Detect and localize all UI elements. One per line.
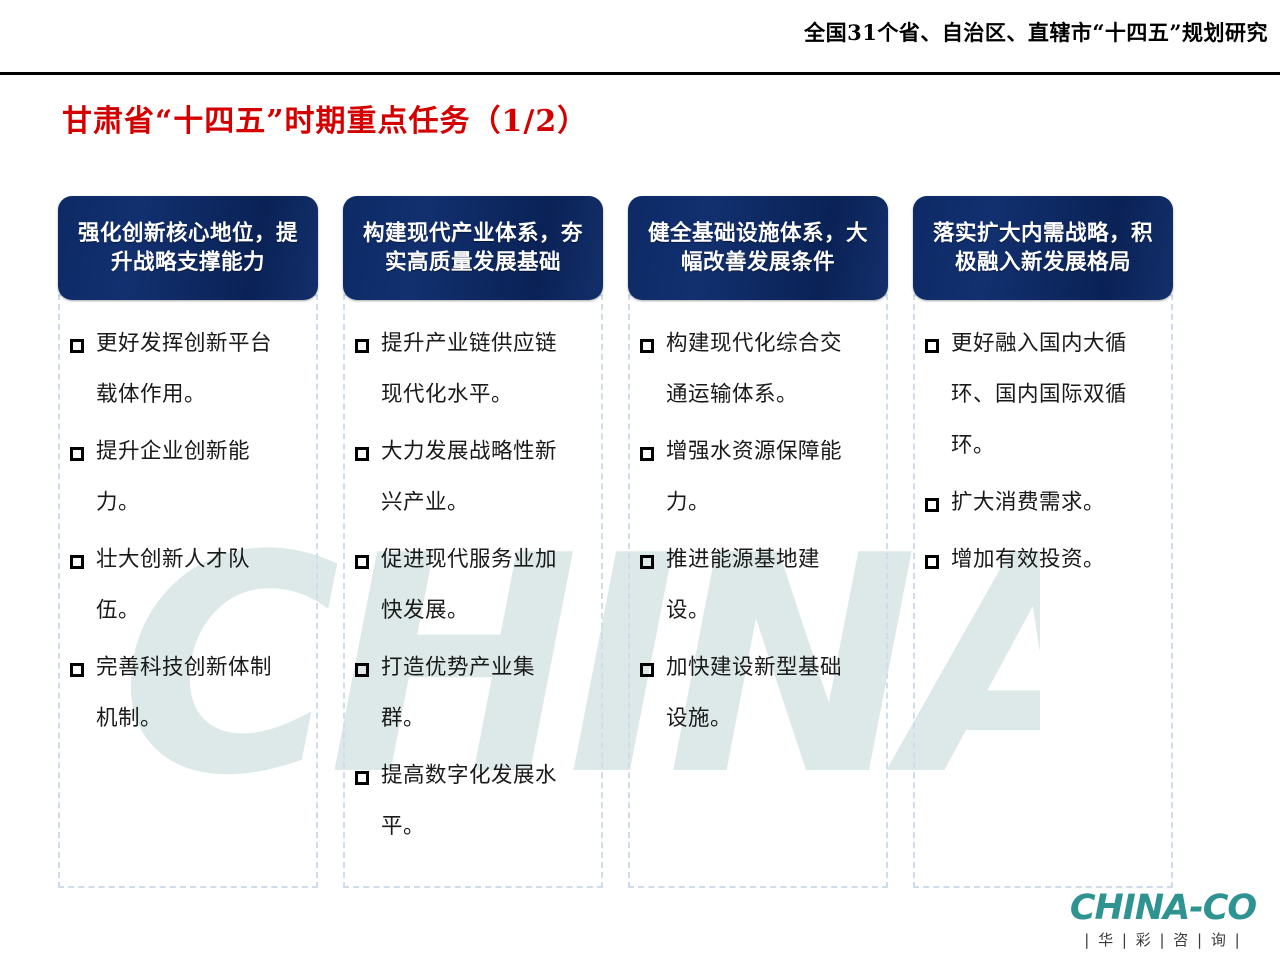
list-item-label: 更好发挥创新平台载体作用。 bbox=[96, 318, 282, 420]
list-item: 大力发展战略性新兴产业。 bbox=[351, 426, 595, 528]
hollow-square-bullet-icon bbox=[636, 318, 658, 368]
column-header-1-label: 强化创新核心地位，提升战略支撑能力 bbox=[68, 219, 308, 277]
list-item: 促进现代服务业加快发展。 bbox=[351, 534, 595, 636]
hollow-square-bullet-icon bbox=[66, 642, 88, 692]
page-title: 甘肃省“十四五”时期重点任务（1/2） bbox=[62, 96, 588, 140]
hollow-square-bullet-icon bbox=[351, 534, 373, 584]
list-item-label: 壮大创新人才队伍。 bbox=[96, 534, 282, 636]
column-header-2: 构建现代产业体系，夯实高质量发展基础 bbox=[343, 196, 603, 300]
page-header: 全国31个省、自治区、直辖市“十四五”规划研究 bbox=[0, 0, 1280, 76]
column-header-4: 落实扩大内需战略，积极融入新发展格局 bbox=[913, 196, 1173, 300]
list-item-label: 提高数字化发展水平。 bbox=[381, 750, 567, 852]
hollow-square-bullet-icon bbox=[66, 318, 88, 368]
list-item-label: 大力发展战略性新兴产业。 bbox=[381, 426, 567, 528]
hollow-square-bullet-icon bbox=[636, 642, 658, 692]
hollow-square-bullet-icon bbox=[351, 750, 373, 800]
list-item: 扩大消费需求。 bbox=[921, 477, 1165, 528]
hollow-square-bullet-icon bbox=[921, 318, 943, 368]
column-body-1: 更好发挥创新平台载体作用。 提升企业创新能力。 壮大创新人才队伍。 完善科技创新… bbox=[58, 294, 318, 888]
list-item-label: 增强水资源保障能力。 bbox=[666, 426, 852, 528]
list-item: 提升企业创新能力。 bbox=[66, 426, 310, 528]
column-header-2-label: 构建现代产业体系，夯实高质量发展基础 bbox=[353, 219, 593, 277]
hollow-square-bullet-icon bbox=[351, 318, 373, 368]
list-item-label: 更好融入国内大循环、国内国际双循环。 bbox=[951, 318, 1137, 471]
list-item-label: 提升企业创新能力。 bbox=[96, 426, 282, 528]
hollow-square-bullet-icon bbox=[351, 426, 373, 476]
task-column-3: 健全基础设施体系，大幅改善发展条件 构建现代化综合交通运输体系。 增强水资源保障… bbox=[628, 196, 888, 888]
logo-subtitle: | 华 | 彩 | 咨 | 询 | bbox=[1084, 929, 1241, 950]
hollow-square-bullet-icon bbox=[921, 534, 943, 584]
hollow-square-bullet-icon bbox=[921, 477, 943, 527]
list-item: 提升产业链供应链现代化水平。 bbox=[351, 318, 595, 420]
list-item: 提高数字化发展水平。 bbox=[351, 750, 595, 852]
column-header-1: 强化创新核心地位，提升战略支撑能力 bbox=[58, 196, 318, 300]
list-item: 增加有效投资。 bbox=[921, 534, 1165, 585]
list-item: 打造优势产业集群。 bbox=[351, 642, 595, 744]
list-item: 推进能源基地建设。 bbox=[636, 534, 880, 636]
list-item: 加快建设新型基础设施。 bbox=[636, 642, 880, 744]
list-item: 构建现代化综合交通运输体系。 bbox=[636, 318, 880, 420]
bullet-list-2: 提升产业链供应链现代化水平。 大力发展战略性新兴产业。 促进现代服务业加快发展。… bbox=[351, 318, 595, 852]
list-item: 壮大创新人才队伍。 bbox=[66, 534, 310, 636]
list-item: 增强水资源保障能力。 bbox=[636, 426, 880, 528]
bullet-list-4: 更好融入国内大循环、国内国际双循环。 扩大消费需求。 增加有效投资。 bbox=[921, 318, 1165, 585]
column-header-3: 健全基础设施体系，大幅改善发展条件 bbox=[628, 196, 888, 300]
header-title: 全国31个省、自治区、直辖市“十四五”规划研究 bbox=[804, 17, 1268, 47]
list-item-label: 提升产业链供应链现代化水平。 bbox=[381, 318, 567, 420]
list-item-label: 增加有效投资。 bbox=[951, 534, 1105, 585]
list-item: 更好融入国内大循环、国内国际双循环。 bbox=[921, 318, 1165, 471]
header-divider bbox=[0, 72, 1280, 75]
column-header-4-label: 落实扩大内需战略，积极融入新发展格局 bbox=[923, 219, 1163, 277]
hollow-square-bullet-icon bbox=[636, 534, 658, 584]
task-column-2: 构建现代产业体系，夯实高质量发展基础 提升产业链供应链现代化水平。 大力发展战略… bbox=[343, 196, 603, 888]
hollow-square-bullet-icon bbox=[66, 534, 88, 584]
company-logo: CHINA-CO | 华 | 彩 | 咨 | 询 | bbox=[1054, 880, 1272, 958]
list-item-label: 扩大消费需求。 bbox=[951, 477, 1105, 528]
hollow-square-bullet-icon bbox=[636, 426, 658, 476]
column-body-4: 更好融入国内大循环、国内国际双循环。 扩大消费需求。 增加有效投资。 bbox=[913, 294, 1173, 888]
list-item-label: 促进现代服务业加快发展。 bbox=[381, 534, 567, 636]
bullet-list-3: 构建现代化综合交通运输体系。 增强水资源保障能力。 推进能源基地建设。 加快建设… bbox=[636, 318, 880, 744]
list-item-label: 完善科技创新体制机制。 bbox=[96, 642, 282, 744]
column-header-3-label: 健全基础设施体系，大幅改善发展条件 bbox=[638, 219, 878, 277]
column-body-3: 构建现代化综合交通运输体系。 增强水资源保障能力。 推进能源基地建设。 加快建设… bbox=[628, 294, 888, 888]
list-item-label: 推进能源基地建设。 bbox=[666, 534, 852, 636]
task-column-4: 落实扩大内需战略，积极融入新发展格局 更好融入国内大循环、国内国际双循环。 扩大… bbox=[913, 196, 1173, 888]
hollow-square-bullet-icon bbox=[351, 642, 373, 692]
list-item-label: 构建现代化综合交通运输体系。 bbox=[666, 318, 852, 420]
hollow-square-bullet-icon bbox=[66, 426, 88, 476]
task-column-1: 强化创新核心地位，提升战略支撑能力 更好发挥创新平台载体作用。 提升企业创新能力… bbox=[58, 196, 318, 888]
logo-wordmark: CHINA-CO bbox=[1070, 889, 1256, 927]
task-columns: 强化创新核心地位，提升战略支撑能力 更好发挥创新平台载体作用。 提升企业创新能力… bbox=[58, 196, 1173, 888]
column-body-2: 提升产业链供应链现代化水平。 大力发展战略性新兴产业。 促进现代服务业加快发展。… bbox=[343, 294, 603, 888]
list-item: 更好发挥创新平台载体作用。 bbox=[66, 318, 310, 420]
list-item-label: 加快建设新型基础设施。 bbox=[666, 642, 852, 744]
list-item-label: 打造优势产业集群。 bbox=[381, 642, 567, 744]
bullet-list-1: 更好发挥创新平台载体作用。 提升企业创新能力。 壮大创新人才队伍。 完善科技创新… bbox=[66, 318, 310, 744]
list-item: 完善科技创新体制机制。 bbox=[66, 642, 310, 744]
